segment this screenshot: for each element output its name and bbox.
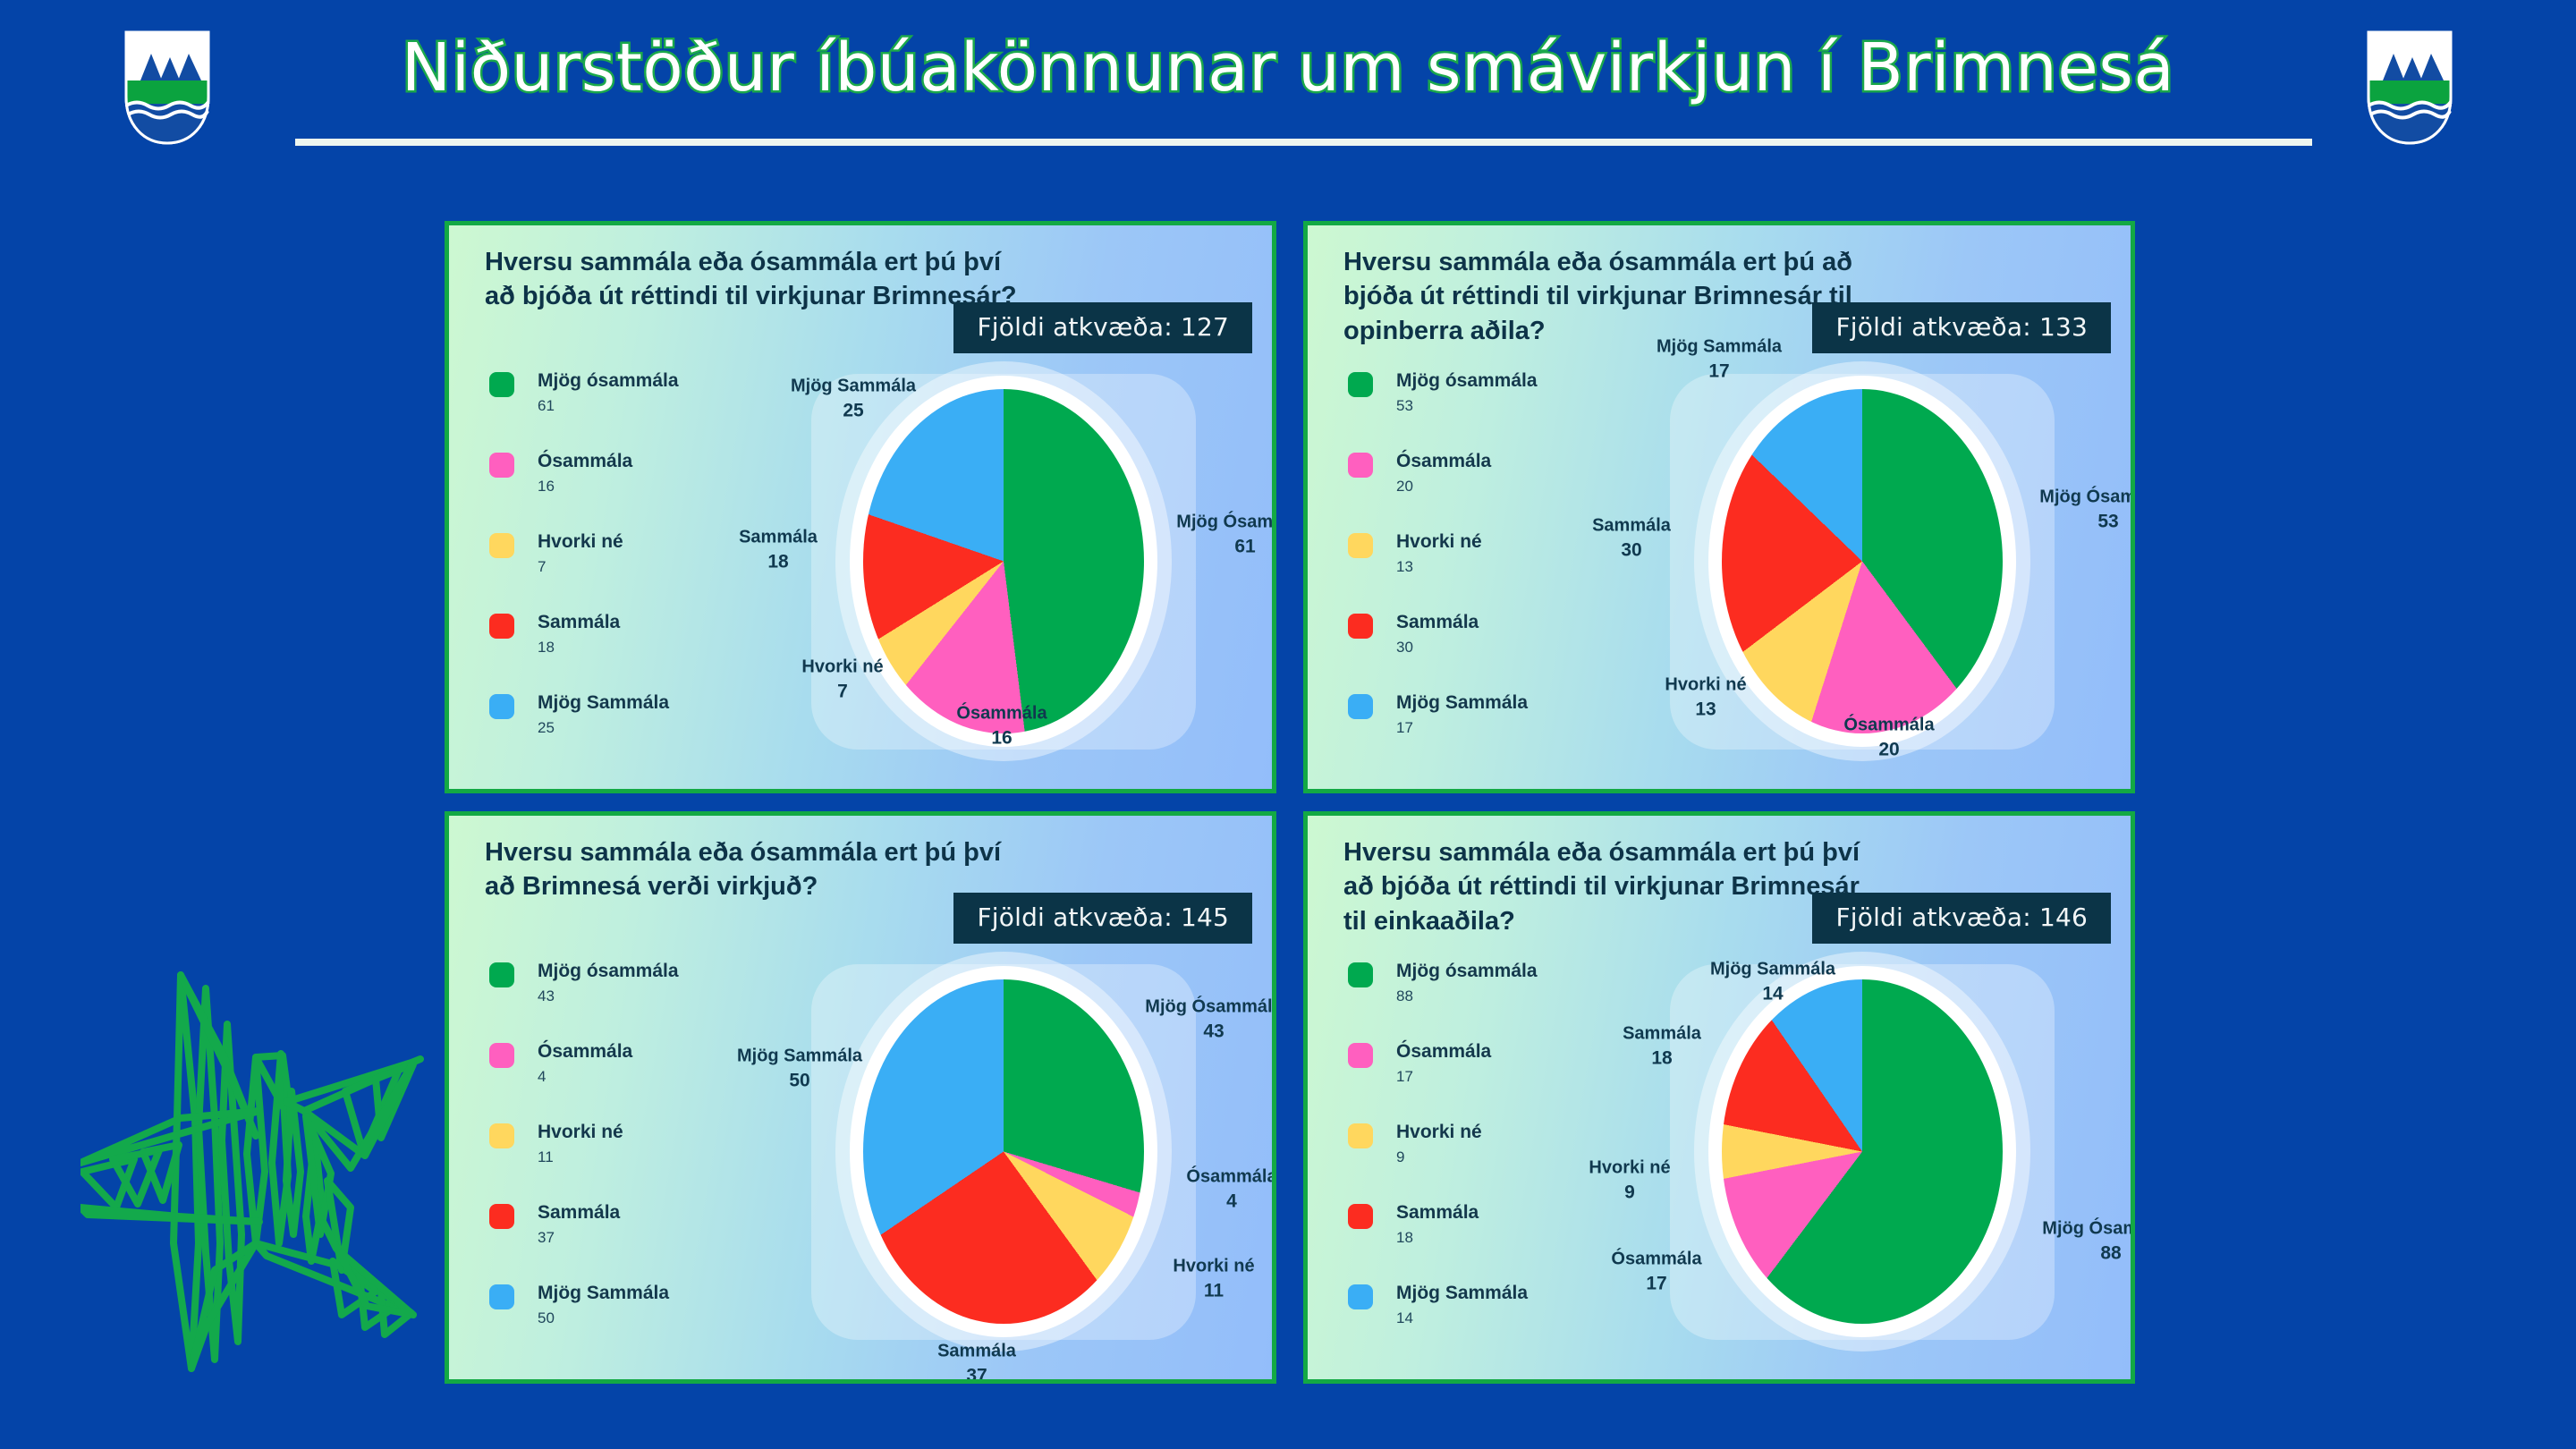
pie-slice-label-text: Ósammála xyxy=(1843,715,1934,734)
legend-color-swatch-osammala xyxy=(1348,1043,1373,1068)
pie-slice-label-text: Hvorki né xyxy=(801,657,883,676)
legend-color-swatch-mjog-osammala xyxy=(1348,962,1373,987)
pie-chart-area: Mjög Ósammála53Ósammála20Hvorki né13Samm… xyxy=(1576,331,2131,787)
survey-panel-1: Hversu sammála eða ósammála ert þú því a… xyxy=(445,221,1276,793)
legend-label: Hvorki né xyxy=(538,1122,623,1142)
pie-slice-label: Mjög Ósammála61 xyxy=(1176,510,1276,559)
legend-color-swatch-mjog-osammala xyxy=(1348,372,1373,397)
pie-chart xyxy=(1722,389,2003,733)
pie-slice-label-value: 11 xyxy=(1173,1278,1254,1303)
legend-count: 43 xyxy=(538,988,679,1004)
legend-count: 88 xyxy=(1396,988,1538,1004)
pie-slice-label-text: Mjög Sammála xyxy=(737,1046,862,1065)
legend-count: 53 xyxy=(1396,398,1538,413)
pie-slice-label-text: Hvorki né xyxy=(1173,1256,1254,1275)
pie-slice-label: Mjög Ósammála88 xyxy=(2042,1216,2135,1266)
legend-color-swatch-sammala xyxy=(1348,614,1373,639)
municipal-crest-right-icon xyxy=(2363,30,2456,145)
legend-color-swatch-sammala xyxy=(489,1204,514,1229)
pie-slice-label-text: Hvorki né xyxy=(1665,674,1746,694)
pie-slice-label: Sammála30 xyxy=(1592,513,1671,563)
pie-slice-label-value: 17 xyxy=(1611,1271,1701,1296)
pie-slice-label-value: 30 xyxy=(1592,538,1671,563)
pie-slice-label-value: 25 xyxy=(791,398,916,423)
pie-slice-label-value: 20 xyxy=(1843,737,1934,762)
legend-color-swatch-hvorki-ne xyxy=(489,1123,514,1148)
pie-slice-label: Sammála18 xyxy=(1623,1021,1701,1071)
legend-color-swatch-osammala xyxy=(489,1043,514,1068)
pie-slice-label-value: 50 xyxy=(737,1068,862,1093)
legend-label: Ósammála xyxy=(538,1041,632,1062)
legend-color-swatch-mjog-sammala xyxy=(489,1284,514,1309)
legend-item: Hvorki né 7 xyxy=(489,531,740,612)
legend-count: 17 xyxy=(1396,720,1528,735)
legend-count: 30 xyxy=(1396,640,1479,655)
legend-item: Mjög Sammála 25 xyxy=(489,692,740,773)
legend-item: Hvorki né 11 xyxy=(489,1122,740,1202)
legend-item: Mjög ósammála 61 xyxy=(489,370,740,451)
legend-label: Mjög ósammála xyxy=(1396,370,1538,391)
pie-slice-label: Ósammála20 xyxy=(1843,713,1934,762)
legend-count: 16 xyxy=(538,479,632,494)
legend-item: Hvorki né 13 xyxy=(1348,531,1598,612)
pie-slice-label-value: 7 xyxy=(801,679,883,704)
pie-slice-label: Hvorki né7 xyxy=(801,655,883,704)
legend-label: Mjög ósammála xyxy=(1396,961,1538,981)
legend-item: Sammála 18 xyxy=(1348,1202,1598,1283)
pie-slice-label-value: 43 xyxy=(1145,1019,1276,1044)
legend-label: Mjög ósammála xyxy=(538,370,679,391)
pie-slice-label-text: Sammála xyxy=(937,1341,1016,1360)
legend-color-swatch-hvorki-ne xyxy=(1348,1123,1373,1148)
legend-item: Ósammála 17 xyxy=(1348,1041,1598,1122)
legend-count: 37 xyxy=(538,1230,620,1245)
scribbled-star-icon xyxy=(80,948,456,1395)
pie-slice-label-text: Mjög Ósammála xyxy=(1176,512,1276,531)
legend-label: Sammála xyxy=(538,612,620,632)
pie-slice-label-value: 18 xyxy=(1623,1046,1701,1071)
legend-item: Ósammála 4 xyxy=(489,1041,740,1122)
legend-item: Mjög ósammála 53 xyxy=(1348,370,1598,451)
legend-label: Sammála xyxy=(538,1202,620,1223)
legend: Mjög ósammála 61 Ósammála 16 Hvorki né xyxy=(489,370,740,773)
pie-chart-area: Mjög Ósammála43Ósammála4Hvorki né11Sammá… xyxy=(717,921,1272,1377)
pie-slice-label: Hvorki né11 xyxy=(1173,1254,1254,1303)
pie-slice-label: Sammála37 xyxy=(937,1339,1016,1384)
pie-slice-label: Ósammála16 xyxy=(956,701,1046,750)
survey-panel-3: Hversu sammála eða ósammála ert þú því a… xyxy=(445,811,1276,1384)
legend-count: 18 xyxy=(1396,1230,1479,1245)
legend-label: Sammála xyxy=(1396,1202,1479,1223)
slide-root: Niðurstöður íbúakönnunar um smávirkjun í… xyxy=(0,0,2576,1449)
legend-item: Hvorki né 9 xyxy=(1348,1122,1598,1202)
legend-color-swatch-sammala xyxy=(489,614,514,639)
legend-label: Mjög Sammála xyxy=(538,1283,669,1303)
pie-chart xyxy=(863,389,1144,733)
pie-slice-label-value: 16 xyxy=(956,725,1046,750)
pie-slice-label: Mjög Sammála50 xyxy=(737,1044,862,1093)
pie-slice-label-text: Mjög Sammála xyxy=(1710,959,1835,979)
legend-count: 9 xyxy=(1396,1149,1482,1165)
legend-item: Mjög ósammála 43 xyxy=(489,961,740,1041)
legend: Mjög ósammála 88 Ósammála 17 Hvorki né xyxy=(1348,961,1598,1363)
pie-slice-label-text: Mjög Sammála xyxy=(1657,336,1782,356)
legend-color-swatch-hvorki-ne xyxy=(1348,533,1373,558)
pie-slice-label-value: 4 xyxy=(1186,1189,1276,1214)
pie-slice-label-value: 61 xyxy=(1176,534,1276,559)
pie-chart xyxy=(863,979,1144,1324)
legend-count: 50 xyxy=(538,1310,669,1326)
legend-color-swatch-mjog-osammala xyxy=(489,372,514,397)
legend: Mjög ósammála 43 Ósammála 4 Hvorki né xyxy=(489,961,740,1363)
results-panel-grid: Hversu sammála eða ósammála ert þú því a… xyxy=(445,221,2135,1384)
pie-slice-label-text: Mjög Ósammála xyxy=(1145,996,1276,1016)
legend-label: Mjög ósammála xyxy=(538,961,679,981)
pie-slice-label: Mjög Sammála25 xyxy=(791,374,916,423)
pie-slice-label: Mjög Ósammála43 xyxy=(1145,995,1276,1044)
legend-count: 61 xyxy=(538,398,679,413)
survey-panel-2: Hversu sammála eða ósammála ert þú að bj… xyxy=(1303,221,2135,793)
legend-label: Ósammála xyxy=(1396,1041,1491,1062)
legend-color-swatch-osammala xyxy=(489,453,514,478)
legend-item: Mjög ósammála 88 xyxy=(1348,961,1598,1041)
legend-label: Hvorki né xyxy=(1396,1122,1482,1142)
title-underline xyxy=(295,139,2312,146)
legend-label: Sammála xyxy=(1396,612,1479,632)
legend-count: 14 xyxy=(1396,1310,1528,1326)
pie-slice-label-text: Ósammála xyxy=(956,703,1046,723)
legend-color-swatch-mjog-sammala xyxy=(489,694,514,719)
pie-slice-label-value: 17 xyxy=(1657,359,1782,384)
pie-slice-label-text: Ósammála xyxy=(1611,1249,1701,1268)
pie-slice-label-value: 18 xyxy=(739,549,818,574)
pie-slice-label: Sammála18 xyxy=(739,525,818,574)
pie-slice-label-text: Mjög Ósammála xyxy=(2039,487,2135,506)
pie-slice-label-value: 9 xyxy=(1589,1180,1670,1205)
legend-color-swatch-osammala xyxy=(1348,453,1373,478)
legend-label: Ósammála xyxy=(1396,451,1491,471)
legend-count: 20 xyxy=(1396,479,1491,494)
pie-slice-label-value: 88 xyxy=(2042,1241,2135,1266)
pie-slice-label: Mjög Ósammála53 xyxy=(2039,485,2135,534)
pie-slice-label-text: Ósammála xyxy=(1186,1166,1276,1186)
pie-slice-label-text: Mjög Sammála xyxy=(791,376,916,395)
legend-label: Hvorki né xyxy=(538,531,623,552)
legend-item: Mjög Sammála 17 xyxy=(1348,692,1598,773)
pie-slice-label: Hvorki né13 xyxy=(1665,673,1746,722)
pie-slice-label-text: Mjög Ósammála xyxy=(2042,1218,2135,1238)
pie-slice-label-text: Hvorki né xyxy=(1589,1157,1670,1177)
pie-chart xyxy=(1722,979,2003,1324)
legend-item: Ósammála 16 xyxy=(489,451,740,531)
legend-label: Mjög Sammála xyxy=(538,692,669,713)
page-title: Niðurstöður íbúakönnunar um smávirkjun í… xyxy=(0,32,2576,105)
legend-label: Mjög Sammála xyxy=(1396,1283,1528,1303)
legend-color-swatch-hvorki-ne xyxy=(489,533,514,558)
legend-count: 4 xyxy=(538,1069,632,1084)
survey-panel-4: Hversu sammála eða ósammála ert þú því a… xyxy=(1303,811,2135,1384)
legend-label: Hvorki né xyxy=(1396,531,1482,552)
pie-slice-label: Ósammála17 xyxy=(1611,1247,1701,1296)
pie-slice-label-value: 53 xyxy=(2039,509,2135,534)
legend-count: 17 xyxy=(1396,1069,1491,1084)
pie-slice-label-text: Sammála xyxy=(1592,515,1671,535)
legend-item: Mjög Sammála 50 xyxy=(489,1283,740,1363)
legend-item: Sammála 18 xyxy=(489,612,740,692)
page-header: Niðurstöður íbúakönnunar um smávirkjun í… xyxy=(0,0,2576,183)
legend-count: 13 xyxy=(1396,559,1482,574)
legend-count: 7 xyxy=(538,559,623,574)
pie-slice-label: Ósammála4 xyxy=(1186,1165,1276,1214)
legend-color-swatch-mjog-osammala xyxy=(489,962,514,987)
pie-slice-label-text: Sammála xyxy=(1623,1023,1701,1043)
legend-label: Ósammála xyxy=(538,451,632,471)
legend: Mjög ósammála 53 Ósammála 20 Hvorki né xyxy=(1348,370,1598,773)
legend-item: Sammála 30 xyxy=(1348,612,1598,692)
pie-slice-label-value: 13 xyxy=(1665,697,1746,722)
pie-chart-area: Mjög Ósammála61Ósammála16Hvorki né7Sammá… xyxy=(717,331,1272,787)
legend-item: Mjög Sammála 14 xyxy=(1348,1283,1598,1363)
pie-slice-label-value: 14 xyxy=(1710,981,1835,1006)
legend-item: Ósammála 20 xyxy=(1348,451,1598,531)
legend-color-swatch-mjog-sammala xyxy=(1348,1284,1373,1309)
pie-slice-label: Hvorki né9 xyxy=(1589,1156,1670,1205)
panel-question: Hversu sammála eða ósammála ert þú því a… xyxy=(485,245,1021,314)
pie-chart-area: Mjög Ósammála88Ósammála17Hvorki né9Sammá… xyxy=(1576,921,2131,1377)
legend-label: Mjög Sammála xyxy=(1396,692,1528,713)
legend-color-swatch-sammala xyxy=(1348,1204,1373,1229)
pie-slice-label-text: Sammála xyxy=(739,527,818,547)
panel-question: Hversu sammála eða ósammála ert þú því a… xyxy=(485,835,1021,904)
pie-slice-label: Mjög Sammála14 xyxy=(1710,957,1835,1006)
legend-count: 18 xyxy=(538,640,620,655)
legend-count: 25 xyxy=(538,720,669,735)
pie-slice-label: Mjög Sammála17 xyxy=(1657,335,1782,384)
legend-item: Sammála 37 xyxy=(489,1202,740,1283)
legend-count: 11 xyxy=(538,1149,623,1165)
legend-color-swatch-mjog-sammala xyxy=(1348,694,1373,719)
pie-slice-label-value: 37 xyxy=(937,1363,1016,1384)
